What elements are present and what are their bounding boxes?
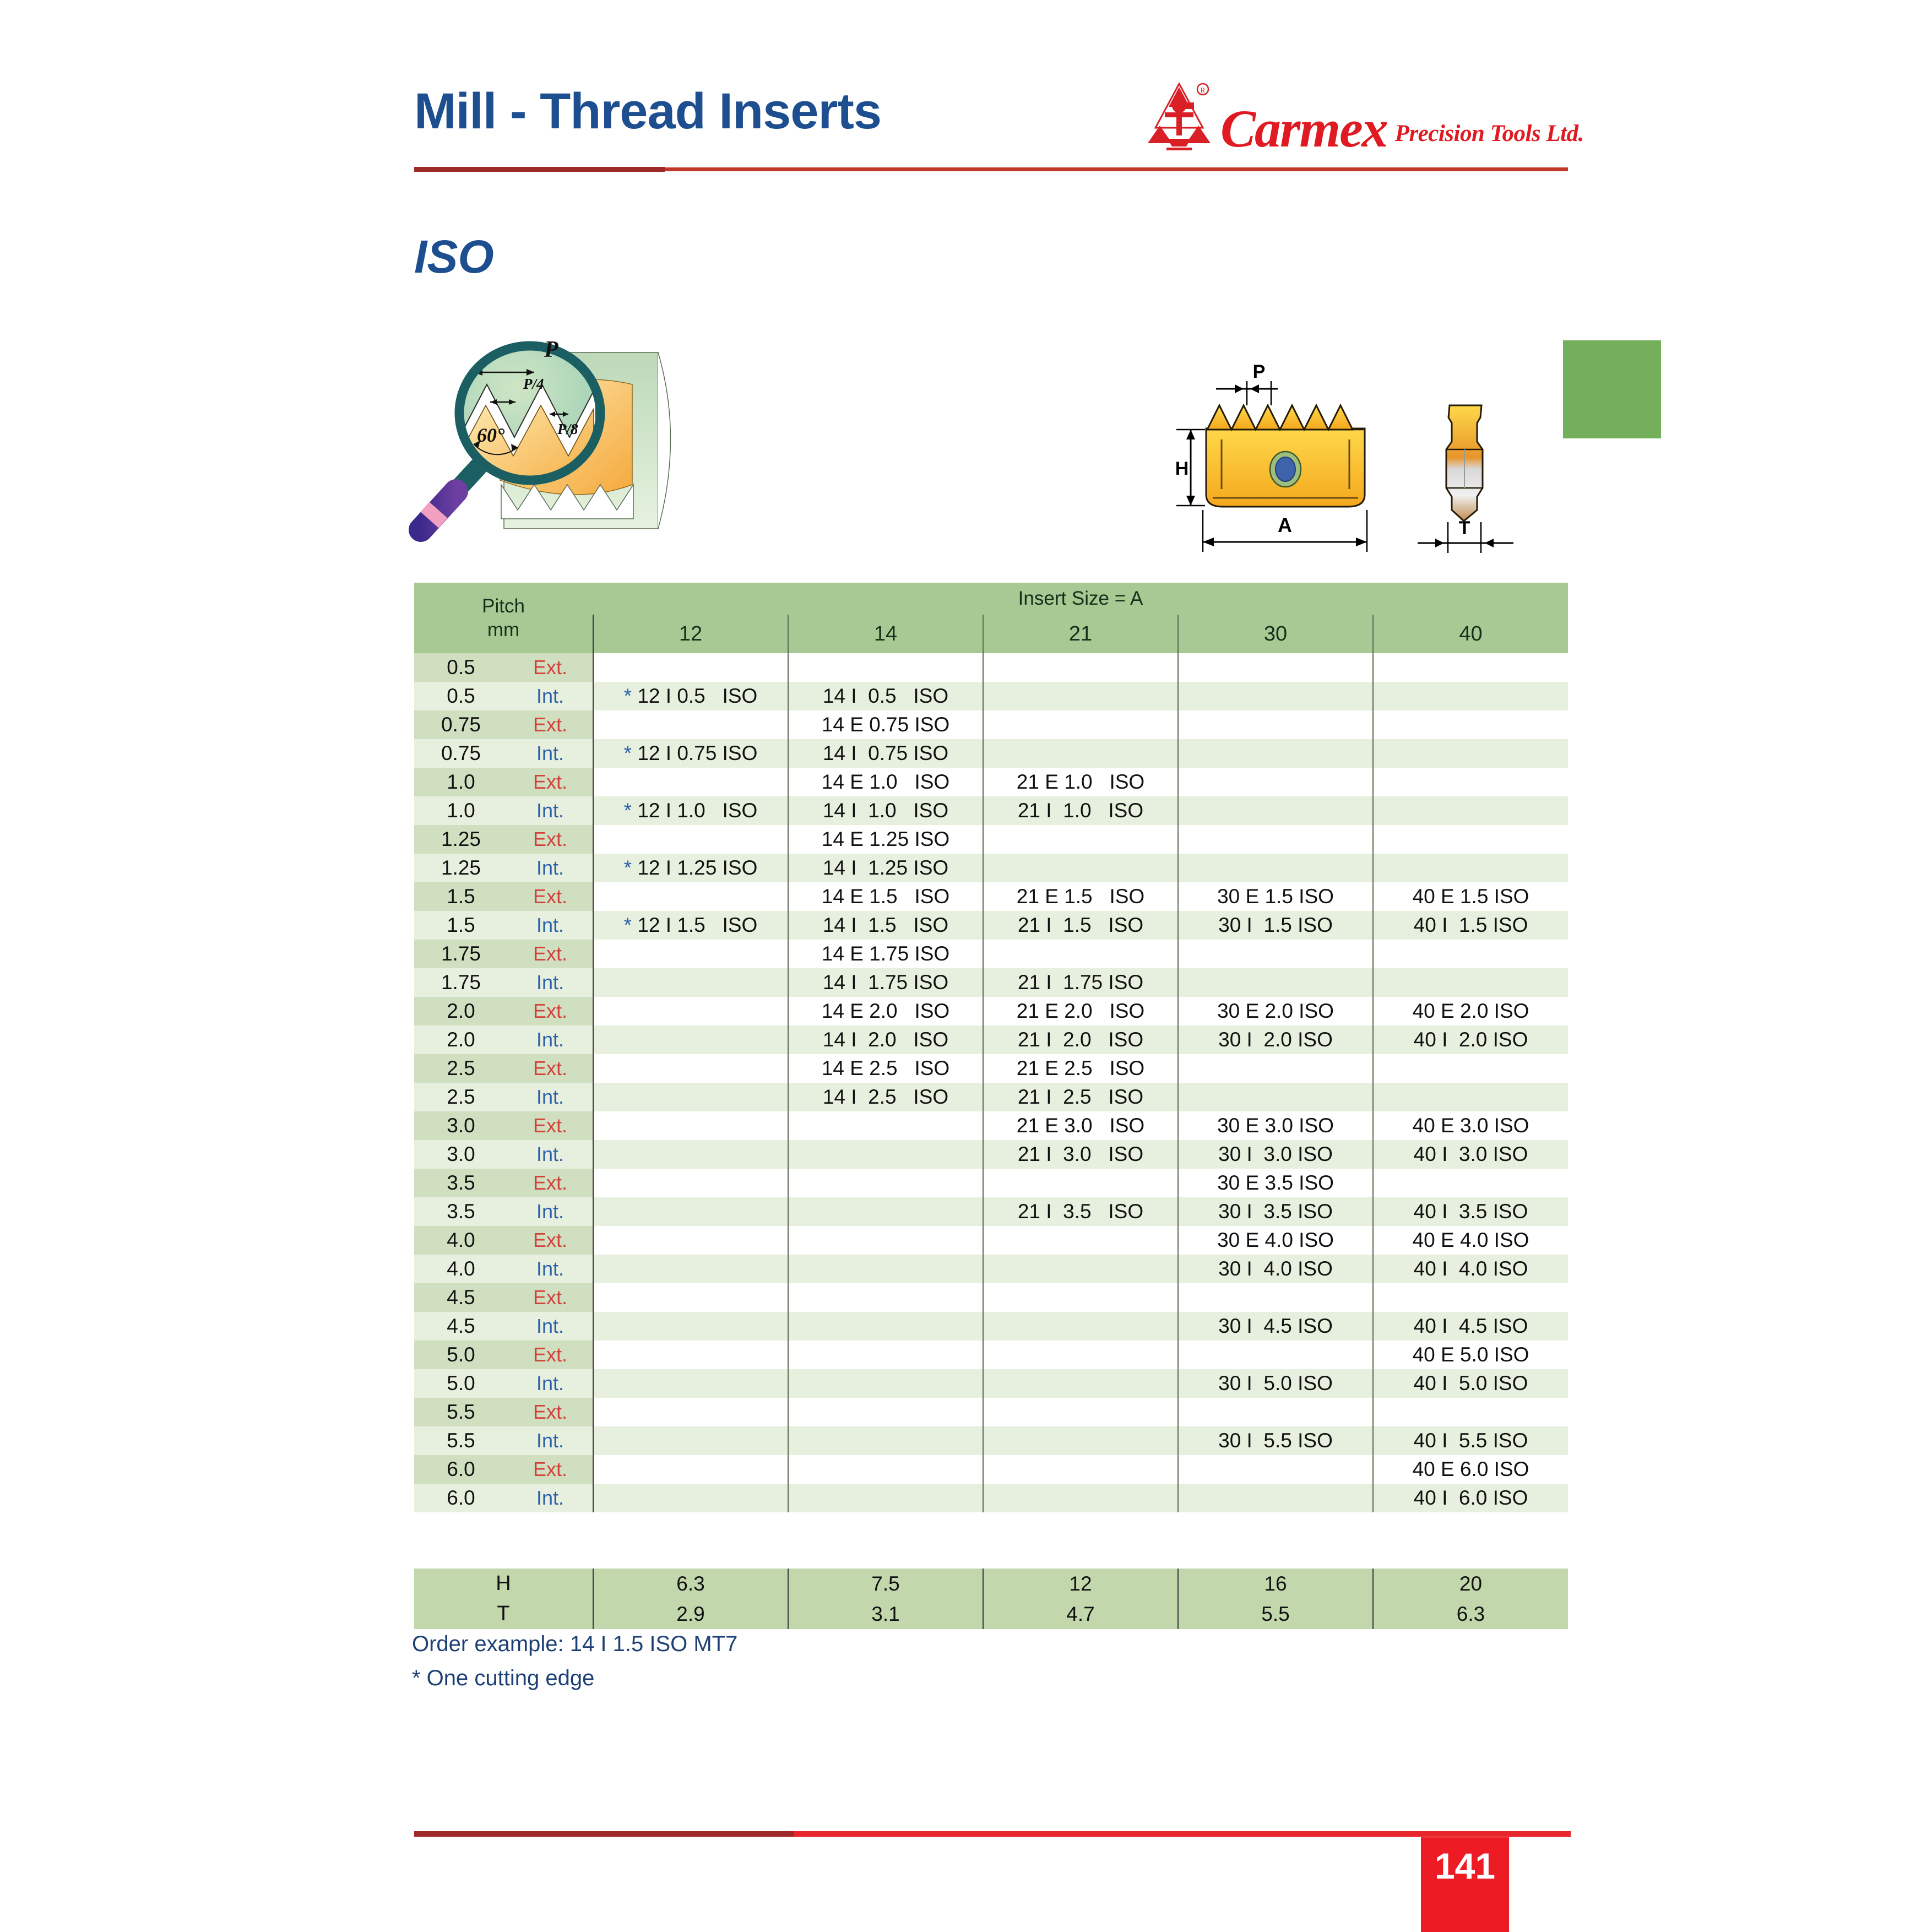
- insert-code-cell: 21 E 3.0 ISO: [983, 1111, 1178, 1140]
- insert-code-cell: [983, 940, 1178, 968]
- direction-external: Ext.: [508, 1283, 593, 1312]
- insert-code-cell: [788, 1226, 983, 1255]
- insert-code-cell: 30 I 3.0 ISO: [1178, 1140, 1373, 1169]
- insert-code-cell: [1178, 653, 1373, 682]
- one-cutting-edge-marker: *: [624, 799, 632, 822]
- insert-code-cell: [1178, 1341, 1373, 1369]
- insert-code-cell: 21 I 1.5 ISO: [983, 911, 1178, 940]
- insert-code-cell: 30 E 1.5 ISO: [1178, 882, 1373, 911]
- direction-external: Ext.: [508, 997, 593, 1025]
- insert-code-cell: [593, 1341, 788, 1369]
- direction-external: Ext.: [508, 1054, 593, 1083]
- insert-code-cell: [593, 710, 788, 739]
- insert-code-cell: * 12 I 0.75 ISO: [593, 739, 788, 768]
- table-row: 3.0Int.21 I 3.0 ISO30 I 3.0 ISO40 I 3.0 …: [414, 1140, 1568, 1169]
- insert-code-cell: [1178, 1398, 1373, 1426]
- insert-code-cell: [593, 825, 788, 854]
- table-row: 2.0Ext.14 E 2.0 ISO21 E 2.0 ISO30 E 2.0 …: [414, 997, 1568, 1025]
- dimension-value: 4.7: [983, 1599, 1178, 1629]
- insert-code-cell: 40 E 2.0 ISO: [1373, 997, 1568, 1025]
- insert-code-cell: [1373, 768, 1568, 796]
- direction-internal: Int.: [508, 1083, 593, 1111]
- insert-code-cell: [983, 1226, 1178, 1255]
- table-row: 2.0Int.14 I 2.0 ISO21 I 2.0 ISO30 I 2.0 …: [414, 1025, 1568, 1054]
- insert-code-cell: [593, 968, 788, 997]
- insert-code-cell: [788, 1140, 983, 1169]
- insert-code-cell: [593, 768, 788, 796]
- insert-code-cell: * 12 I 0.5 ISO: [593, 682, 788, 710]
- direction-internal: Int.: [508, 854, 593, 882]
- one-cutting-edge-marker: *: [624, 914, 632, 936]
- insert-code-cell: [788, 1341, 983, 1369]
- label-pitch-P: P: [544, 337, 558, 362]
- table-row: 5.0Ext.40 E 5.0 ISO: [414, 1341, 1568, 1369]
- insert-code-cell: [1373, 1169, 1568, 1197]
- insert-code-cell: 14 E 1.75 ISO: [788, 940, 983, 968]
- direction-external: Ext.: [508, 768, 593, 796]
- insert-code-cell: [1178, 1455, 1373, 1484]
- table-row: 4.0Ext.30 E 4.0 ISO40 E 4.0 ISO: [414, 1226, 1568, 1255]
- insert-code-cell: [593, 882, 788, 911]
- insert-code-cell: [983, 1312, 1178, 1341]
- insert-code-cell: 30 I 5.5 ISO: [1178, 1426, 1373, 1455]
- insert-code-cell: [1373, 1398, 1568, 1426]
- insert-code-cell: * 12 I 1.5 ISO: [593, 911, 788, 940]
- pitch-value: 5.5: [414, 1398, 508, 1426]
- insert-code-cell: 40 E 5.0 ISO: [1373, 1341, 1568, 1369]
- insert-code-cell: 40 E 6.0 ISO: [1373, 1455, 1568, 1484]
- insert-code-cell: [983, 1455, 1178, 1484]
- insert-code-cell: 21 I 3.0 ISO: [983, 1140, 1178, 1169]
- table-row: 0.75Ext.14 E 0.75 ISO: [414, 710, 1568, 739]
- table-row: 1.5Int.* 12 I 1.5 ISO14 I 1.5 ISO21 I 1.…: [414, 911, 1568, 940]
- insert-code-cell: [983, 682, 1178, 710]
- insert-code-cell: 14 I 1.75 ISO: [788, 968, 983, 997]
- direction-internal: Int.: [508, 1312, 593, 1341]
- pitch-value: 0.5: [414, 682, 508, 710]
- direction-external: Ext.: [508, 653, 593, 682]
- insert-code-cell: [1373, 968, 1568, 997]
- pitch-label-line2: mm: [487, 619, 519, 641]
- insert-code-cell: 21 I 1.0 ISO: [983, 796, 1178, 825]
- pitch-value: 5.0: [414, 1341, 508, 1369]
- pitch-value: 1.5: [414, 882, 508, 911]
- dimension-value: 5.5: [1178, 1599, 1373, 1629]
- direction-internal: Int.: [508, 1369, 593, 1398]
- dimension-value: 16: [1178, 1569, 1373, 1599]
- insert-code-cell: 30 E 3.5 ISO: [1178, 1169, 1373, 1197]
- insert-code-cell: 14 E 0.75 ISO: [788, 710, 983, 739]
- insert-code-cell: 14 I 2.5 ISO: [788, 1083, 983, 1111]
- direction-internal: Int.: [508, 796, 593, 825]
- table-row: 0.75Int.* 12 I 0.75 ISO14 I 0.75 ISO: [414, 739, 1568, 768]
- pitch-value: 1.5: [414, 911, 508, 940]
- direction-internal: Int.: [508, 1484, 593, 1512]
- pitch-value: 5.0: [414, 1369, 508, 1398]
- insert-code-cell: 30 I 4.5 ISO: [1178, 1312, 1373, 1341]
- label-pitch-quarter: P/4: [523, 376, 544, 392]
- dimension-value: 6.3: [1373, 1599, 1568, 1629]
- label-pitch-eighth: P/8: [557, 421, 578, 437]
- insert-code-cell: [983, 739, 1178, 768]
- dimension-value: 7.5: [788, 1569, 983, 1599]
- insert-code-cell: [593, 1169, 788, 1197]
- insert-code-cell: [983, 1426, 1178, 1455]
- dimension-value: 20: [1373, 1569, 1568, 1599]
- table-row: 1.25Ext.14 E 1.25 ISO: [414, 825, 1568, 854]
- insert-code-cell: [983, 1484, 1178, 1512]
- pitch-value: 3.0: [414, 1111, 508, 1140]
- table-row: 6.0Ext.40 E 6.0 ISO: [414, 1455, 1568, 1484]
- table-row: 1.5Ext.14 E 1.5 ISO21 E 1.5 ISO30 E 1.5 …: [414, 882, 1568, 911]
- direction-internal: Int.: [508, 911, 593, 940]
- cutting-edge-footnote: * One cutting edge: [412, 1666, 594, 1691]
- insert-code-cell: [593, 1226, 788, 1255]
- pitch-value: 3.5: [414, 1169, 508, 1197]
- pitch-value: 1.0: [414, 768, 508, 796]
- insert-code-cell: [1373, 796, 1568, 825]
- pitch-value: 6.0: [414, 1484, 508, 1512]
- insert-code-cell: 30 I 2.0 ISO: [1178, 1025, 1373, 1054]
- direction-external: Ext.: [508, 940, 593, 968]
- pitch-value: 0.75: [414, 710, 508, 739]
- insert-code-cell: [983, 1341, 1178, 1369]
- pitch-value: 1.75: [414, 940, 508, 968]
- svg-text:R: R: [1201, 86, 1206, 94]
- insert-code-cell: [983, 1398, 1178, 1426]
- direction-external: Ext.: [508, 1111, 593, 1140]
- insert-code-cell: 40 I 2.0 ISO: [1373, 1025, 1568, 1054]
- insert-code-cell: 14 E 1.5 ISO: [788, 882, 983, 911]
- table-row: 6.0Int.40 I 6.0 ISO: [414, 1484, 1568, 1512]
- table-row: 2.5Ext.14 E 2.5 ISO21 E 2.5 ISO: [414, 1054, 1568, 1083]
- dimension-value: 2.9: [593, 1599, 788, 1629]
- table-row: 1.0Ext.14 E 1.0 ISO21 E 1.0 ISO: [414, 768, 1568, 796]
- insert-code-cell: 14 E 2.0 ISO: [788, 997, 983, 1025]
- insert-code-cell: [788, 1283, 983, 1312]
- insert-code-cell: [1373, 825, 1568, 854]
- brand-wordmark: Carmex: [1220, 106, 1387, 152]
- table-row: 1.75Ext.14 E 1.75 ISO: [414, 940, 1568, 968]
- column-header-insert-size: Insert Size = A: [593, 583, 1568, 615]
- insert-code-cell: 21 I 1.75 ISO: [983, 968, 1178, 997]
- table-row: 3.5Ext.30 E 3.5 ISO: [414, 1169, 1568, 1197]
- insert-code-cell: 14 I 1.0 ISO: [788, 796, 983, 825]
- insert-code-cell: 21 E 1.0 ISO: [983, 768, 1178, 796]
- insert-code-cell: 30 E 4.0 ISO: [1178, 1226, 1373, 1255]
- insert-code-cell: [1178, 1054, 1373, 1083]
- table-row: 1.25Int.* 12 I 1.25 ISO14 I 1.25 ISO: [414, 854, 1568, 882]
- table-row: 0.5Int.* 12 I 0.5 ISO14 I 0.5 ISO: [414, 682, 1568, 710]
- pitch-value: 1.25: [414, 854, 508, 882]
- insert-code-cell: [593, 1455, 788, 1484]
- table-row: 1.0Int.* 12 I 1.0 ISO14 I 1.0 ISO21 I 1.…: [414, 796, 1568, 825]
- dimension-row: T2.93.14.75.56.3: [414, 1599, 1568, 1629]
- insert-code-cell: [983, 653, 1178, 682]
- insert-code-cell: [1373, 739, 1568, 768]
- insert-code-cell: [983, 710, 1178, 739]
- insert-code-cell: [1178, 710, 1373, 739]
- pitch-value: 4.5: [414, 1283, 508, 1312]
- footer-divider: [414, 1831, 1571, 1837]
- insert-code-cell: 30 I 4.0 ISO: [1178, 1255, 1373, 1283]
- label-thread-angle: 60°: [477, 424, 505, 446]
- insert-code-cell: [1178, 768, 1373, 796]
- insert-code-cell: 14 I 0.5 ISO: [788, 682, 983, 710]
- insert-code-cell: [983, 1255, 1178, 1283]
- insert-code-cell: 21 E 2.0 ISO: [983, 997, 1178, 1025]
- insert-code-cell: [1373, 1054, 1568, 1083]
- carmex-triangle-logo-icon: R: [1146, 82, 1213, 152]
- direction-internal: Int.: [508, 968, 593, 997]
- insert-code-cell: [593, 1111, 788, 1140]
- insert-code-cell: * 12 I 1.25 ISO: [593, 854, 788, 882]
- direction-external: Ext.: [508, 1226, 593, 1255]
- pitch-value: 5.5: [414, 1426, 508, 1455]
- table-row: 4.5Ext.: [414, 1283, 1568, 1312]
- thread-profile-illustration: P P/4 P/8 60°: [408, 319, 705, 562]
- table-row: 3.5Int.21 I 3.5 ISO30 I 3.5 ISO40 I 3.5 …: [414, 1197, 1568, 1226]
- insert-code-cell: [1178, 940, 1373, 968]
- catalog-page: Mill - Thread Inserts R Carmex Precision…: [0, 0, 1932, 1932]
- direction-external: Ext.: [508, 882, 593, 911]
- insert-code-cell: [788, 1197, 983, 1226]
- insert-code-cell: [1178, 1484, 1373, 1512]
- insert-code-cell: 14 E 1.0 ISO: [788, 768, 983, 796]
- table-row: 0.5Ext.: [414, 653, 1568, 682]
- direction-external: Ext.: [508, 1341, 593, 1369]
- pitch-value: 2.0: [414, 997, 508, 1025]
- column-header-pitch: Pitch mm: [414, 583, 593, 653]
- dimension-value: 3.1: [788, 1599, 983, 1629]
- insert-code-cell: [1373, 682, 1568, 710]
- section-color-tab: [1563, 340, 1661, 438]
- one-cutting-edge-marker: *: [624, 685, 632, 707]
- table-row: 5.0Int.30 I 5.0 ISO40 I 5.0 ISO: [414, 1369, 1568, 1398]
- insert-code-cell: 21 E 1.5 ISO: [983, 882, 1178, 911]
- insert-code-cell: 40 I 3.5 ISO: [1373, 1197, 1568, 1226]
- insert-code-cell: [788, 1312, 983, 1341]
- insert-code-cell: [788, 1426, 983, 1455]
- insert-code-cell: * 12 I 1.0 ISO: [593, 796, 788, 825]
- pitch-value: 3.5: [414, 1197, 508, 1226]
- insert-code-cell: [1373, 1083, 1568, 1111]
- direction-external: Ext.: [508, 1398, 593, 1426]
- pitch-value: 2.5: [414, 1083, 508, 1111]
- dimension-value: 6.3: [593, 1569, 788, 1599]
- insert-code-cell: 40 I 4.0 ISO: [1373, 1255, 1568, 1283]
- insert-code-cell: 14 I 1.5 ISO: [788, 911, 983, 940]
- pitch-value: 0.5: [414, 653, 508, 682]
- pitch-label-line1: Pitch: [482, 595, 525, 617]
- insert-code-cell: 30 I 5.0 ISO: [1178, 1369, 1373, 1398]
- size-column-header-12: 12: [593, 615, 788, 653]
- pitch-value: 3.0: [414, 1140, 508, 1169]
- brand-tagline: Precision Tools Ltd.: [1395, 122, 1584, 145]
- insert-code-cell: 40 I 3.0 ISO: [1373, 1140, 1568, 1169]
- size-column-header-21: 21: [983, 615, 1178, 653]
- dim-label-T: T: [1459, 518, 1470, 539]
- table-row: 4.0Int.30 I 4.0 ISO40 I 4.0 ISO: [414, 1255, 1568, 1283]
- insert-code-cell: 14 E 2.5 ISO: [788, 1054, 983, 1083]
- insert-code-cell: [593, 1484, 788, 1512]
- direction-external: Ext.: [508, 1455, 593, 1484]
- insert-code-cell: 30 I 1.5 ISO: [1178, 911, 1373, 940]
- insert-code-cell: 14 E 1.25 ISO: [788, 825, 983, 854]
- insert-code-cell: [788, 1255, 983, 1283]
- insert-code-cell: 40 E 3.0 ISO: [1373, 1111, 1568, 1140]
- direction-internal: Int.: [508, 739, 593, 768]
- direction-internal: Int.: [508, 1255, 593, 1283]
- insert-code-cell: [1178, 854, 1373, 882]
- insert-code-cell: [1178, 739, 1373, 768]
- insert-code-cell: [593, 1140, 788, 1169]
- insert-code-cell: 21 I 3.5 ISO: [983, 1197, 1178, 1226]
- pitch-value: 1.25: [414, 825, 508, 854]
- insert-code-cell: [983, 1369, 1178, 1398]
- insert-code-cell: [1178, 1083, 1373, 1111]
- insert-code-cell: [1373, 1283, 1568, 1312]
- pitch-value: 4.0: [414, 1226, 508, 1255]
- pitch-value: 0.75: [414, 739, 508, 768]
- insert-code-cell: 14 I 1.25 ISO: [788, 854, 983, 882]
- pitch-value: 2.0: [414, 1025, 508, 1054]
- dimension-summary-table: H6.37.5121620T2.93.14.75.56.3: [414, 1569, 1568, 1629]
- insert-code-cell: [788, 1398, 983, 1426]
- insert-code-cell: 30 I 3.5 ISO: [1178, 1197, 1373, 1226]
- direction-external: Ext.: [508, 825, 593, 854]
- insert-code-cell: [1178, 682, 1373, 710]
- pitch-value: 1.0: [414, 796, 508, 825]
- dimension-label-T: T: [414, 1599, 593, 1629]
- insert-code-cell: [1373, 710, 1568, 739]
- direction-external: Ext.: [508, 1169, 593, 1197]
- size-column-header-14: 14: [788, 615, 983, 653]
- insert-code-cell: 40 I 4.5 ISO: [1373, 1312, 1568, 1341]
- insert-code-cell: 40 I 5.5 ISO: [1373, 1426, 1568, 1455]
- insert-code-cell: [593, 940, 788, 968]
- insert-code-cell: [1373, 653, 1568, 682]
- pitch-value: 1.75: [414, 968, 508, 997]
- insert-code-cell: 40 E 1.5 ISO: [1373, 882, 1568, 911]
- size-column-header-30: 30: [1178, 615, 1373, 653]
- insert-code-cell: [788, 1169, 983, 1197]
- insert-code-cell: 21 I 2.5 ISO: [983, 1083, 1178, 1111]
- insert-code-cell: [788, 1111, 983, 1140]
- insert-code-cell: [788, 1455, 983, 1484]
- insert-code-cell: [593, 1025, 788, 1054]
- insert-code-cell: [1178, 796, 1373, 825]
- direction-external: Ext.: [508, 710, 593, 739]
- direction-internal: Int.: [508, 1197, 593, 1226]
- dimension-row: H6.37.5121620: [414, 1569, 1568, 1599]
- insert-code-cell: [983, 1169, 1178, 1197]
- insert-size-table: Pitch mm Insert Size = A 1214213040 0.5E…: [414, 583, 1568, 1512]
- insert-code-cell: [593, 653, 788, 682]
- one-cutting-edge-marker: *: [624, 742, 632, 764]
- table-body: 0.5Ext.0.5Int.* 12 I 0.5 ISO14 I 0.5 ISO…: [414, 653, 1568, 1512]
- pitch-value: 6.0: [414, 1455, 508, 1484]
- page-number-badge: 141: [1421, 1837, 1509, 1932]
- direction-internal: Int.: [508, 1426, 593, 1455]
- table-row: 5.5Ext.: [414, 1398, 1568, 1426]
- dimension-label-H: H: [414, 1569, 593, 1599]
- page-title: Mill - Thread Inserts: [414, 83, 881, 140]
- insert-code-cell: 40 I 6.0 ISO: [1373, 1484, 1568, 1512]
- table-row: 3.0Ext.21 E 3.0 ISO30 E 3.0 ISO40 E 3.0 …: [414, 1111, 1568, 1140]
- insert-code-cell: 14 I 0.75 ISO: [788, 739, 983, 768]
- insert-code-cell: 40 I 1.5 ISO: [1373, 911, 1568, 940]
- insert-code-cell: [593, 1197, 788, 1226]
- insert-code-cell: [983, 1283, 1178, 1312]
- insert-code-cell: [1178, 1283, 1373, 1312]
- table-row: 1.75Int.14 I 1.75 ISO21 I 1.75 ISO: [414, 968, 1568, 997]
- dim-label-P: P: [1253, 361, 1266, 382]
- insert-code-cell: [1178, 825, 1373, 854]
- insert-dimension-illustration: P H A T: [1173, 352, 1559, 573]
- one-cutting-edge-marker: *: [624, 856, 632, 879]
- insert-code-cell: 21 I 2.0 ISO: [983, 1025, 1178, 1054]
- insert-code-cell: [1373, 854, 1568, 882]
- direction-internal: Int.: [508, 1140, 593, 1169]
- direction-internal: Int.: [508, 682, 593, 710]
- insert-code-cell: 30 E 2.0 ISO: [1178, 997, 1373, 1025]
- pitch-value: 2.5: [414, 1054, 508, 1083]
- insert-code-cell: 14 I 2.0 ISO: [788, 1025, 983, 1054]
- table-row: 5.5Int.30 I 5.5 ISO40 I 5.5 ISO: [414, 1426, 1568, 1455]
- insert-code-cell: [788, 1369, 983, 1398]
- insert-code-cell: [1178, 968, 1373, 997]
- insert-code-cell: 40 I 5.0 ISO: [1373, 1369, 1568, 1398]
- insert-code-cell: [983, 854, 1178, 882]
- insert-code-cell: 40 E 4.0 ISO: [1373, 1226, 1568, 1255]
- direction-internal: Int.: [508, 1025, 593, 1054]
- dimension-value: 12: [983, 1569, 1178, 1599]
- insert-code-cell: [593, 1255, 788, 1283]
- insert-code-cell: [593, 1312, 788, 1341]
- insert-code-cell: [593, 1054, 788, 1083]
- insert-code-cell: [593, 997, 788, 1025]
- pitch-value: 4.0: [414, 1255, 508, 1283]
- dim-label-A: A: [1278, 514, 1292, 536]
- table-row: 4.5Int.30 I 4.5 ISO40 I 4.5 ISO: [414, 1312, 1568, 1341]
- table-row: 2.5Int.14 I 2.5 ISO21 I 2.5 ISO: [414, 1083, 1568, 1111]
- header-divider: [414, 167, 1568, 172]
- size-column-header-40: 40: [1373, 615, 1568, 653]
- insert-code-cell: [593, 1426, 788, 1455]
- insert-code-cell: [593, 1398, 788, 1426]
- insert-code-cell: 21 E 2.5 ISO: [983, 1054, 1178, 1083]
- carmex-logo: R Carmex Precision Tools Ltd.: [1146, 82, 1584, 152]
- insert-code-cell: [788, 653, 983, 682]
- insert-code-cell: [593, 1083, 788, 1111]
- insert-code-cell: [788, 1484, 983, 1512]
- dim-label-H: H: [1175, 458, 1189, 479]
- section-heading: ISO: [414, 230, 494, 284]
- pitch-value: 4.5: [414, 1312, 508, 1341]
- insert-code-cell: 30 E 3.0 ISO: [1178, 1111, 1373, 1140]
- order-example-note: Order example: 14 I 1.5 ISO MT7: [412, 1632, 737, 1657]
- insert-code-cell: [593, 1369, 788, 1398]
- insert-code-cell: [1373, 940, 1568, 968]
- insert-code-cell: [593, 1283, 788, 1312]
- insert-code-cell: [983, 825, 1178, 854]
- dimension-summary-body: H6.37.5121620T2.93.14.75.56.3: [414, 1569, 1568, 1629]
